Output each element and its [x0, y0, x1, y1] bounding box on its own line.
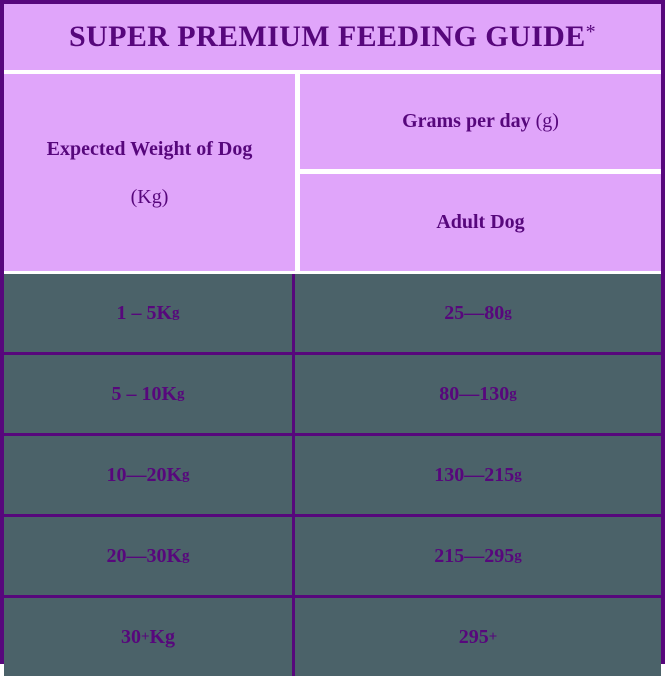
cell-grams-main: 25—80 [444, 303, 504, 323]
header-grams-unit: (g) [536, 110, 559, 132]
feeding-guide-table: SUPER PREMIUM FEEDING GUIDE* Expected We… [0, 0, 665, 664]
cell-grams-main: 130—215 [434, 465, 514, 485]
cell-weight: 5 – 10Kg [4, 355, 292, 433]
cell-weight-main: 30 [121, 627, 141, 647]
cell-weight: 30+Kg [4, 598, 292, 676]
table-row: 5 – 10Kg 80—130g [4, 352, 661, 433]
table-header: Expected Weight of Dog (Kg) Grams per da… [4, 74, 661, 271]
header-adult-dog-text: Adult Dog [436, 211, 524, 234]
cell-grams-main: 295 [459, 627, 489, 647]
title-asterisk: * [586, 21, 596, 43]
table-row: 20—30Kg 215—295g [4, 514, 661, 595]
header-grams-main: Grams per day [402, 110, 531, 132]
header-cell-grams-per-day: Grams per day (g) [300, 74, 661, 169]
cell-grams: 25—80g [295, 274, 661, 352]
header-weight-line1: Expected Weight of Dog [47, 138, 253, 160]
cell-grams-main: 80—130 [439, 384, 509, 404]
cell-weight-main: 1 – 5K [116, 303, 172, 323]
cell-weight: 20—30Kg [4, 517, 292, 595]
table-body: 1 – 5Kg 25—80g 5 – 10Kg 80—130g 10—20Kg … [4, 274, 661, 676]
table-row: 10—20Kg 130—215g [4, 433, 661, 514]
cell-weight-unit: g [182, 549, 190, 564]
cell-weight: 10—20Kg [4, 436, 292, 514]
cell-grams: 130—215g [295, 436, 661, 514]
cell-grams-unit: g [509, 387, 517, 402]
cell-grams: 295+ [295, 598, 661, 676]
cell-weight: 1 – 5Kg [4, 274, 292, 352]
cell-weight-main: 10—20K [106, 465, 182, 485]
cell-weight-unit: Kg [150, 627, 176, 647]
title-text: SUPER PREMIUM FEEDING GUIDE [69, 20, 586, 53]
cell-grams-main: 215—295 [434, 546, 514, 566]
cell-weight-unit: g [177, 387, 185, 402]
header-right-group: Grams per day (g) Adult Dog [300, 74, 661, 271]
header-cell-expected-weight: Expected Weight of Dog (Kg) [4, 74, 295, 271]
cell-grams: 80—130g [295, 355, 661, 433]
cell-grams-unit: g [504, 306, 512, 321]
cell-grams: 215—295g [295, 517, 661, 595]
table-title-band: SUPER PREMIUM FEEDING GUIDE* [4, 4, 661, 70]
cell-grams-unit: g [514, 549, 522, 564]
page-title: SUPER PREMIUM FEEDING GUIDE* [69, 22, 596, 52]
cell-grams-unit: g [514, 468, 522, 483]
cell-weight-plus: + [141, 630, 150, 645]
cell-weight-main: 20—30K [106, 546, 182, 566]
header-weight-line2: (Kg) [131, 186, 169, 208]
cell-weight-unit: g [172, 306, 180, 321]
table-row: 1 – 5Kg 25—80g [4, 274, 661, 352]
cell-weight-unit: g [182, 468, 190, 483]
cell-grams-plus: + [489, 630, 498, 645]
header-cell-adult-dog: Adult Dog [300, 174, 661, 271]
cell-weight-main: 5 – 10K [111, 384, 177, 404]
header-grams-text: Grams per day (g) [402, 110, 559, 133]
